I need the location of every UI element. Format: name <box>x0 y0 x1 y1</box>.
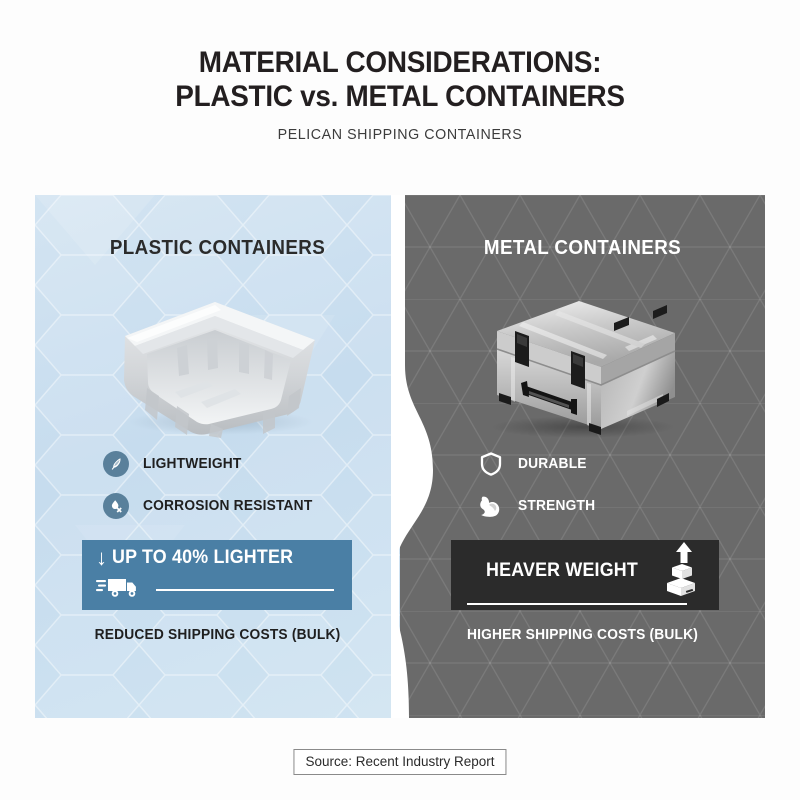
panel-metal-content: METAL CONTAINERS <box>400 195 765 718</box>
metal-caption: HIGHER SHIPPING COSTS (BULK) <box>409 627 756 643</box>
callout-rule <box>156 589 334 591</box>
metal-case-container-image <box>400 283 765 443</box>
plastic-tote-container-image <box>35 283 400 443</box>
header: MATERIAL CONSIDERATIONS: PLASTIC vs. MET… <box>0 46 800 143</box>
panel-metal-heading: METAL CONTAINERS <box>411 237 754 260</box>
plastic-feature-list: LIGHTWEIGHT CORROSION RESISTANT <box>35 443 400 527</box>
arrow-down-icon: ↓ <box>96 547 107 569</box>
comparison-panels: PLASTIC CONTAINERS <box>35 195 765 718</box>
source-badge: Source: Recent Industry Report <box>293 749 506 775</box>
plastic-caption: REDUCED SHIPPING COSTS (BULK) <box>44 627 391 643</box>
panel-plastic: PLASTIC CONTAINERS <box>35 195 400 718</box>
metal-callout-text: HEAVER WEIGHT <box>471 560 653 582</box>
metal-callout-box: HEAVER WEIGHT <box>451 540 719 610</box>
stacked-boxes-up-arrow-icon <box>659 546 705 596</box>
feature-durable-label: DURABLE <box>518 456 587 472</box>
panel-plastic-heading: PLASTIC CONTAINERS <box>46 237 389 260</box>
panel-plastic-content: PLASTIC CONTAINERS <box>35 195 400 718</box>
subtitle: PELICAN SHIPPING CONTAINERS <box>20 126 780 143</box>
delivery-truck-icon <box>96 576 142 603</box>
infographic-canvas: MATERIAL CONSIDERATIONS: PLASTIC vs. MET… <box>0 0 800 800</box>
feature-strength-label: STRENGTH <box>518 498 595 514</box>
feature-corrosion-resistant-label: CORROSION RESISTANT <box>143 498 312 514</box>
feature-strength: STRENGTH <box>478 485 765 527</box>
callout-rule <box>467 603 687 605</box>
metal-case-icon <box>467 287 699 439</box>
feather-icon <box>103 451 129 477</box>
shield-icon <box>478 451 504 477</box>
water-drop-no-corrosion-icon <box>103 493 129 519</box>
feature-lightweight: LIGHTWEIGHT <box>103 443 400 485</box>
title-line-2: PLASTIC vs. METAL CONTAINERS <box>28 80 772 114</box>
plastic-callout-box: ↓ UP TO 40% LIGHTER <box>82 540 352 610</box>
feature-durable: DURABLE <box>478 443 765 485</box>
title-line-1: MATERIAL CONSIDERATIONS: <box>28 46 772 80</box>
panel-metal: METAL CONTAINERS <box>400 195 765 718</box>
plastic-tote-icon <box>103 288 333 438</box>
plastic-callout-text: UP TO 40% LIGHTER <box>112 547 293 569</box>
feature-corrosion-resistant: CORROSION RESISTANT <box>103 485 400 527</box>
bicep-strength-icon <box>478 493 504 519</box>
feature-lightweight-label: LIGHTWEIGHT <box>143 456 242 472</box>
metal-feature-list: DURABLE STRENGTH <box>400 443 765 527</box>
